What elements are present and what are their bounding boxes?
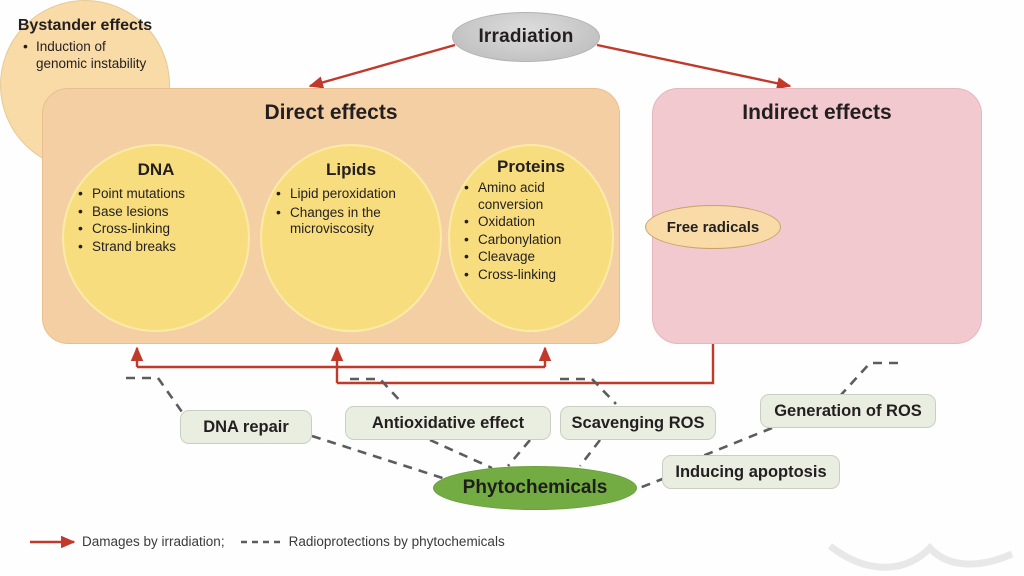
wire-indirect-to-generation-ros (840, 363, 898, 396)
protection-box-label: DNA repair (203, 418, 289, 437)
dna-item-list: Point mutations Base lesions Cross-linki… (64, 186, 248, 255)
protection-box-label: Antioxidative effect (372, 414, 524, 433)
legend-damage-label: Damages by irradiation; (82, 534, 225, 549)
protection-box-scavenging-ros[interactable]: Scavenging ROS (560, 406, 716, 440)
list-item: Amino acid conversion (464, 180, 604, 213)
diagram-canvas: Irradiation Direct effects DNA Point mut… (0, 0, 1024, 576)
list-item: Cleavage (464, 249, 604, 266)
list-item: Carbonylation (464, 232, 604, 249)
phytochemicals-label: Phytochemicals (463, 477, 608, 499)
wire-inducing-apoptosis-to-phytochemicals (634, 478, 665, 490)
free-radicals-node[interactable]: Free radicals (645, 205, 781, 249)
arrow-irradiation-to-direct (310, 45, 455, 86)
bystander-item-list: Induction of genomic instability (1, 39, 169, 72)
list-item: Point mutations (78, 186, 240, 203)
list-item: Lipid peroxidation (276, 186, 432, 203)
list-item: Oxidation (464, 214, 604, 231)
free-radicals-label: Free radicals (667, 219, 760, 236)
lipids-item-list: Lipid peroxidation Changes in the microv… (262, 186, 440, 238)
lipids-title: Lipids (262, 160, 440, 180)
wire-antioxidative-down-to-phytochemicals (508, 440, 530, 466)
legend-protection-label: Radioprotections by phytochemicals (289, 534, 505, 549)
protection-box-label: Generation of ROS (774, 402, 922, 421)
proteins-item-list: Amino acid conversion Oxidation Carbonyl… (450, 180, 612, 283)
list-item: Cross-linking (78, 221, 240, 238)
protection-box-label: Inducing apoptosis (675, 463, 826, 482)
legend: Damages by irradiation; Radioprotections… (28, 534, 505, 549)
list-item: Cross-linking (464, 267, 604, 284)
lipids-circle[interactable]: Lipids Lipid peroxidation Changes in the… (260, 144, 442, 332)
list-item: Base lesions (78, 204, 240, 221)
protection-box-inducing-apoptosis[interactable]: Inducing apoptosis (662, 455, 840, 489)
protection-box-generation-of-ros[interactable]: Generation of ROS (760, 394, 936, 428)
indirect-effects-title: Indirect effects (653, 101, 981, 125)
list-item: Strand breaks (78, 239, 240, 256)
legend-damage-line-icon (28, 535, 82, 549)
wire-lipids-to-antioxidative (350, 379, 403, 404)
wire-antioxidative-to-phytochemicals (430, 440, 492, 468)
watermark-swoosh-icon (826, 540, 1016, 576)
dna-title: DNA (64, 160, 248, 180)
proteins-title: Proteins (450, 157, 612, 177)
wire-scavenging-to-phytochemicals (580, 440, 600, 466)
list-item: Changes in the microviscosity (276, 205, 432, 238)
protection-box-label: Scavenging ROS (572, 414, 705, 433)
proteins-circle[interactable]: Proteins Amino acid conversion Oxidation… (448, 144, 614, 332)
irradiation-node[interactable]: Irradiation (452, 12, 600, 62)
legend-protection-line-icon (239, 535, 285, 549)
bystander-effects-title: Bystander effects (1, 17, 169, 35)
wire-dna-repair-to-phytochemicals (312, 436, 455, 482)
list-item: Induction of genomic instability (23, 39, 159, 72)
protection-box-dna-repair[interactable]: DNA repair (180, 410, 312, 444)
dna-circle[interactable]: DNA Point mutations Base lesions Cross-l… (62, 144, 250, 332)
irradiation-label: Irradiation (478, 26, 573, 48)
wire-proteins-to-scavenging (560, 379, 616, 404)
arrow-irradiation-to-indirect (597, 45, 790, 86)
wire-dna-circle-to-dna-repair (126, 378, 182, 412)
direct-effects-title: Direct effects (43, 101, 619, 125)
protection-box-antioxidative-effect[interactable]: Antioxidative effect (345, 406, 551, 440)
phytochemicals-node[interactable]: Phytochemicals (433, 466, 637, 510)
